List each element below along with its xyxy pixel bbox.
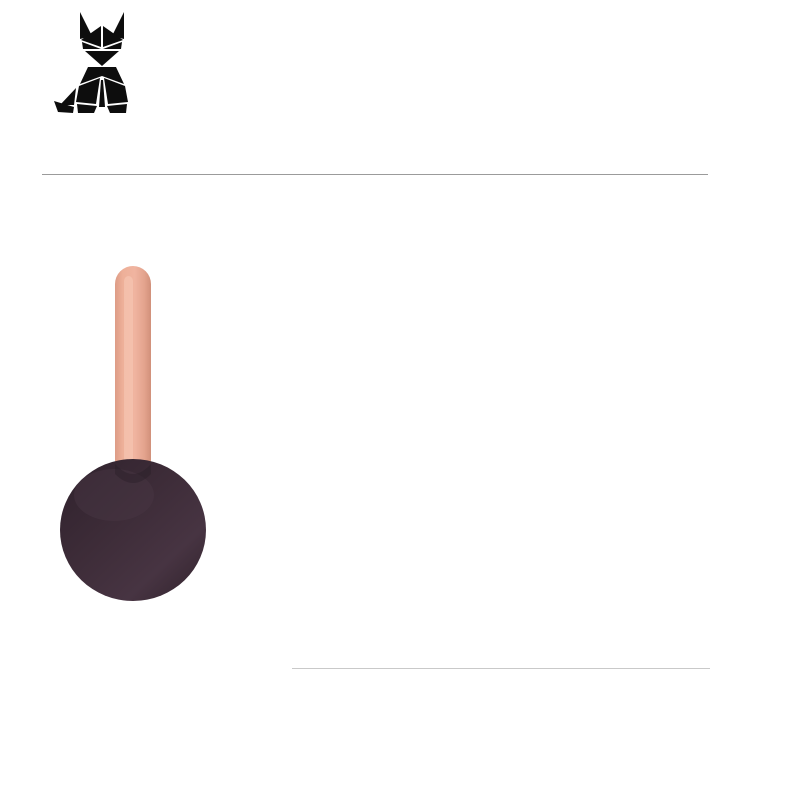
- product-parameters-page: [0, 0, 800, 800]
- origami-cat-logo-icon: [52, 6, 152, 114]
- divider-bottom: [292, 668, 710, 669]
- pet-feeding-spoon-photo: [52, 252, 268, 610]
- divider-top: [42, 174, 708, 175]
